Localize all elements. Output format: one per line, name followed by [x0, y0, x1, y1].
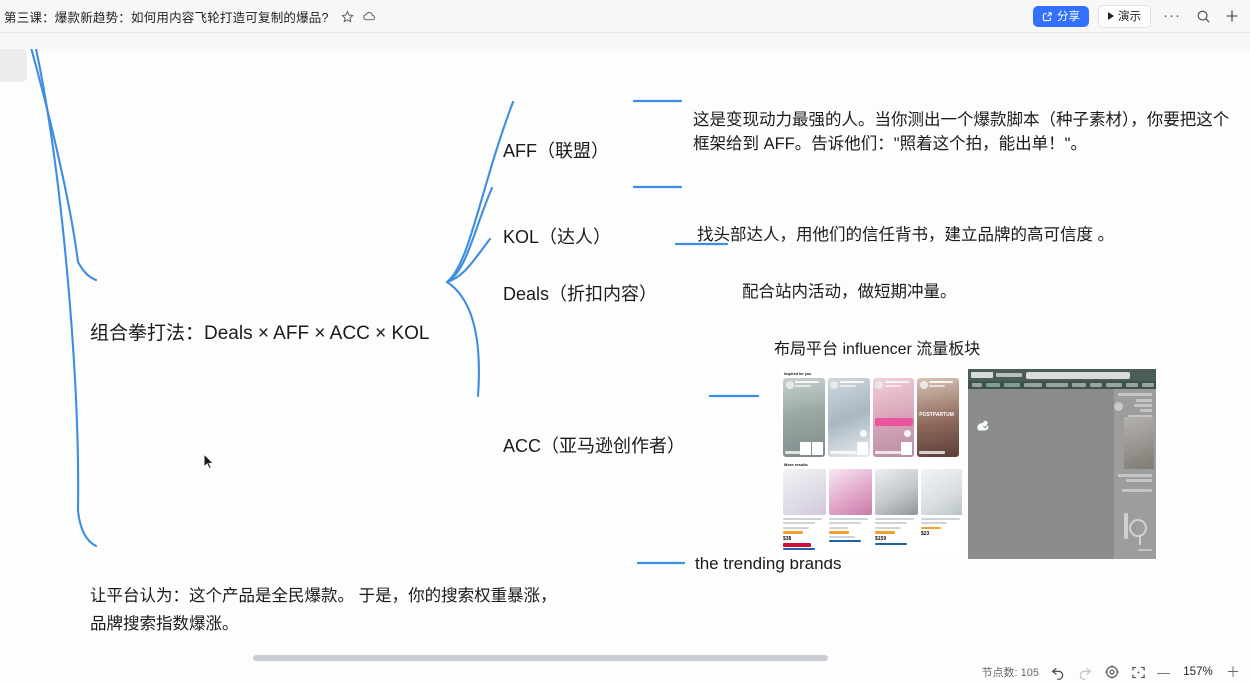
- share-button[interactable]: 分享: [1033, 6, 1089, 27]
- redo-arrow-icon: [1077, 664, 1093, 680]
- sub-header-strip: [0, 33, 1250, 49]
- node-count-label: 节点数: 105: [982, 664, 1039, 680]
- mindmap-canvas[interactable]: 组合拳打法：Deals × AFF × ACC × KOL AFF（联盟） KO…: [0, 49, 1250, 683]
- product-card: $38: [783, 469, 826, 550]
- top-toolbar: 第三课：爆款新趋势：如何用内容飞轮打造可复制的爆品?: [0, 0, 1250, 33]
- status-bar: 节点数: 105 — 157% ＋: [0, 661, 1250, 683]
- thumb-b-tool-icon: [1129, 519, 1147, 537]
- zoom-out-button[interactable]: —: [1157, 665, 1170, 680]
- product-card: $159: [875, 469, 918, 550]
- product-price: $23: [921, 531, 962, 537]
- search-icon[interactable]: [1193, 6, 1213, 26]
- zoom-in-button[interactable]: ＋: [1226, 662, 1240, 682]
- share-external-icon: [1042, 11, 1053, 22]
- toolbar-actions: 分享 演示 ···: [1033, 5, 1242, 28]
- product-card: $23: [921, 469, 962, 550]
- undo-arrow-icon[interactable]: [1050, 664, 1066, 680]
- mindmap-node-bottom-line1[interactable]: 让平台认为：这个产品是全民爆款。 于是，你的搜索权重暴涨，: [90, 585, 557, 609]
- center-target-icon[interactable]: [1104, 664, 1120, 680]
- thumb-b-preview-image: [1124, 417, 1154, 469]
- thumb-a-product-row: $38 $159 $23: [780, 469, 962, 550]
- thumb-b-tool-icon: [1139, 536, 1142, 545]
- present-button-label: 演示: [1118, 8, 1141, 24]
- document-title[interactable]: 第三课：爆款新趋势：如何用内容飞轮打造可复制的爆品?: [4, 7, 329, 26]
- present-button[interactable]: 演示: [1098, 5, 1151, 28]
- thumb-b-tool-icon: [1124, 513, 1128, 539]
- product-price: $159: [875, 536, 918, 542]
- more-options-button[interactable]: ···: [1160, 11, 1184, 21]
- mouse-pointer-icon: [203, 453, 215, 471]
- search-input: [1026, 372, 1130, 379]
- loading-spinner-icon: [976, 419, 991, 432]
- cloud-sync-icon[interactable]: [363, 10, 376, 23]
- product-card: [829, 469, 872, 550]
- mindmap-node-kol[interactable]: KOL（达人）: [503, 224, 611, 250]
- left-panel-tab[interactable]: [0, 49, 27, 82]
- thumb-a-video-row: POSTPARTUM: [780, 378, 962, 457]
- thumb-a-heading: Inspired for you: [780, 369, 962, 378]
- mindmap-node-acc[interactable]: ACC（亚马逊创作者）: [503, 433, 685, 459]
- plus-icon[interactable]: [1222, 6, 1242, 26]
- mindmap-detail-deals[interactable]: 配合站内活动，做短期冲量。: [742, 281, 957, 305]
- video-badge-label: POSTPARTUM: [919, 412, 954, 418]
- product-price: $38: [783, 536, 826, 542]
- mindmap-node-deals[interactable]: Deals（折扣内容）: [503, 281, 657, 307]
- play-triangle-icon: [1108, 12, 1114, 20]
- mindmap-detail-aff[interactable]: 这是变现动力最强的人。当你测出一个爆款脚本（种子素材），你要把这个框架给到 AF…: [693, 109, 1245, 157]
- mindmap-app-window: 第三课：爆款新趋势：如何用内容飞轮打造可复制的爆品?: [0, 0, 1250, 683]
- video-card: [783, 378, 825, 457]
- delivery-location: [996, 373, 1022, 377]
- star-outline-icon[interactable]: [341, 10, 354, 23]
- zoom-level-label[interactable]: 157%: [1181, 666, 1215, 678]
- thumb-a-section-heading: More results: [780, 457, 962, 469]
- fit-screen-icon[interactable]: [1131, 665, 1146, 680]
- video-card: [873, 378, 915, 457]
- share-button-label: 分享: [1057, 8, 1080, 24]
- video-card: [828, 378, 870, 457]
- mindmap-node-bottom-line2[interactable]: 品牌搜索指数爆涨。: [90, 613, 239, 637]
- mindmap-node-center[interactable]: 组合拳打法：Deals × AFF × ACC × KOL: [90, 320, 429, 348]
- mindmap-detail-kol[interactable]: 找头部达人，用他们的信任背书，建立品牌的高可信度 。: [697, 224, 1114, 248]
- mindmap-node-aff[interactable]: AFF（联盟）: [503, 138, 609, 164]
- video-card: POSTPARTUM: [917, 378, 959, 457]
- attachment-amazon-inspire-feed[interactable]: Inspired for you POSTPARTUM: [780, 369, 962, 559]
- attachment-amazon-shop-screenshot[interactable]: [968, 369, 1156, 559]
- thumb-b-page: [968, 369, 1156, 559]
- mindmap-detail-acc-caption[interactable]: 布局平台 influencer 流量板块: [774, 338, 980, 361]
- amazon-logo-icon: [971, 372, 993, 378]
- avatar: [1114, 402, 1123, 411]
